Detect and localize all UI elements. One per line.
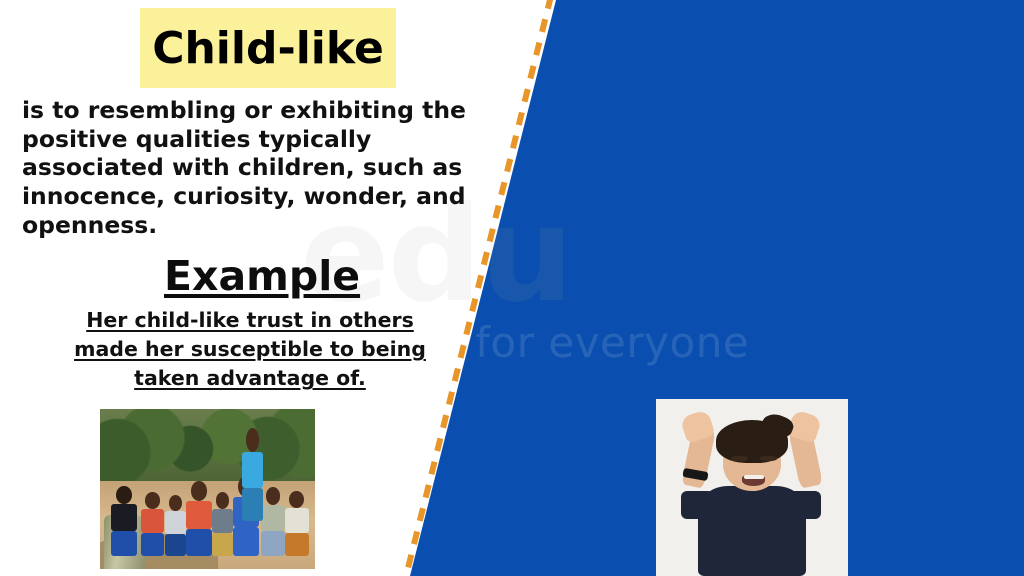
left-example-line-2: made her susceptible to being bbox=[74, 337, 426, 361]
left-example-text: Her child-like trust in others made her … bbox=[40, 306, 460, 393]
left-example-line-1: Her child-like trust in others bbox=[86, 308, 414, 332]
left-panel: Child-like is to resembling or exhibitin… bbox=[0, 0, 500, 576]
left-definition: is to resembling or exhibiting the posit… bbox=[22, 96, 470, 239]
left-example-heading: Example bbox=[164, 252, 360, 300]
left-title-text: Child-like bbox=[152, 23, 384, 74]
comparison-infographic: edu edu ucation for everyone Child-like … bbox=[0, 0, 1024, 576]
right-photo bbox=[656, 399, 848, 576]
left-title-chip: Child-like bbox=[140, 8, 396, 88]
left-photo bbox=[100, 409, 315, 569]
left-example-line-3: taken advantage of. bbox=[134, 366, 366, 390]
